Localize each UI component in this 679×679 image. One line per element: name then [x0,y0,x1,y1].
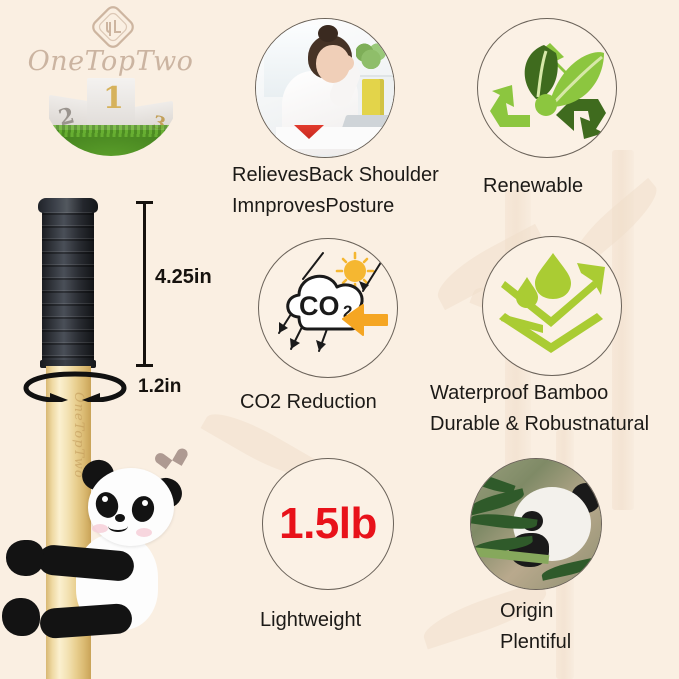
feature-caption-line1: Waterproof Bamboo [430,378,649,409]
diamond-monogram-emblem-icon [91,5,135,49]
co2-cloud-sun-icon: CO 2 [259,239,398,378]
feature-icon-waterproof [482,236,622,376]
diameter-dimension: 1.2in [14,366,214,414]
height-dimension-label: 4.25in [155,266,212,289]
water-repellent-icon [483,237,622,376]
cartoon-panda [10,430,210,660]
feature-caption-origin: Origin Plentiful [500,596,571,658]
plant-icon [356,39,386,73]
feature-icon-renewable [477,18,617,158]
panda-cheek-left [92,524,108,533]
feature-caption-renewable: Renewable [483,172,583,201]
podium-photo: 2 3 1 [41,78,181,156]
desk [276,127,395,149]
weight-value: 1.5lb [263,459,393,589]
feature-caption-co2: CO2 Reduction [240,388,377,417]
panda-paw-lower-left [2,598,40,636]
panda-arm-lower [39,603,133,639]
feature-icon-origin [470,458,602,590]
grip-ribs [42,212,94,366]
podium-number-1: 1 [103,81,124,116]
panda-bamboo-photo [471,459,601,589]
feature-caption-posture: RelievesBack Shoulder ImnprovesPosture [232,160,439,222]
panda-nose [115,514,125,522]
feature-caption-waterproof: Waterproof Bamboo Durable & Robustnatura… [430,378,649,440]
feature-caption-line1: Lightweight [260,606,361,635]
infographic-canvas: OneTopTwo 2 3 1 OneTopTwo 4.25in [0,0,679,679]
panda-paw-upper-left [6,540,44,576]
feature-caption-weight: Lightweight [260,606,361,635]
black-ribbed-grip [42,198,94,366]
feature-caption-line1: RelievesBack Shoulder [232,160,439,191]
person-hair-bun [318,25,338,42]
brand-wordmark: OneTopTwo [8,46,213,77]
height-dimension: 4.25in [133,200,225,368]
feature-caption-line2: Durable & Robustnatural [430,409,649,440]
recycle-leaves-icon [478,19,617,158]
feature-caption-line2: ImnprovesPosture [232,191,439,222]
diameter-dimension-label: 1.2in [138,376,181,398]
person-hand [338,55,354,71]
binder [362,79,384,117]
feature-icon-posture [255,18,395,158]
feature-icon-weight: 1.5lb [262,458,394,590]
panda-eye-highlight-left [102,496,108,502]
svg-text:CO: CO [299,291,340,321]
panda-eye-highlight-right [142,500,148,506]
back-pain-photo [256,19,394,157]
heart-icon [160,446,183,468]
feature-caption-line1: CO2 Reduction [240,388,377,417]
rotation-arrow-icon [20,370,130,402]
grass-base [41,130,181,156]
panda-cheek-right [136,528,152,537]
height-dimension-line [143,204,146,364]
brand-logo-block: OneTopTwo 2 3 1 [8,2,213,162]
feature-caption-line1: Origin [500,596,571,627]
feature-caption-line1: Renewable [483,172,583,201]
feature-caption-line2: Plentiful [500,627,571,658]
product-photo: OneTopTwo 4.25in 1.2in [0,190,230,679]
feature-icon-co2: CO 2 [258,238,398,378]
